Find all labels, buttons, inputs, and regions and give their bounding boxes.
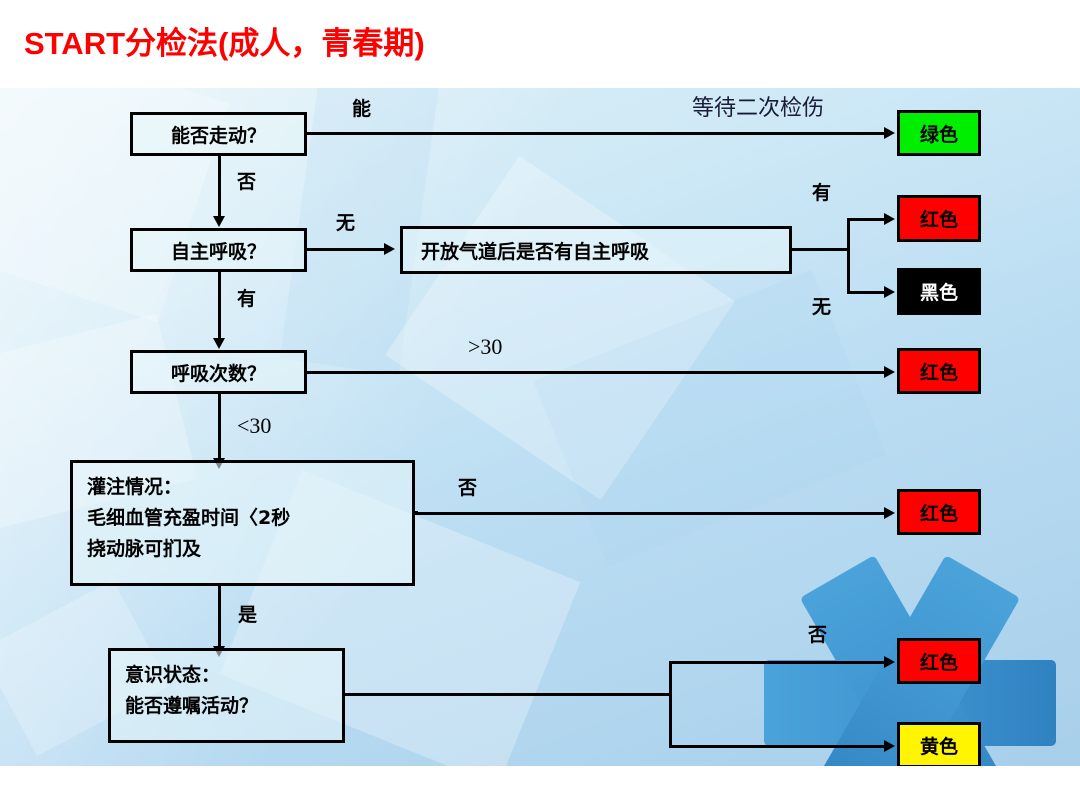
edge-resp-gt30-arrowhead: [884, 366, 895, 378]
edge-consciousness-no: [669, 661, 885, 664]
label-walk-yes: 能: [352, 94, 371, 121]
node-consciousness-line-2: 能否遵嘱活动？: [125, 691, 330, 722]
node-airway-opened[interactable]: 开放气道后是否有自主呼吸: [400, 226, 792, 274]
edge-walk-yes: [307, 132, 885, 135]
slide-background: 能否走动？ 能 等待二次检伤 绿色 否 自主呼吸？ 无 开放气道后是否有自主呼吸…: [0, 88, 1080, 766]
edge-perfusion-no: [415, 512, 885, 515]
chip-red-consciousness-label: 红色: [920, 648, 958, 675]
edge-airway-split: [847, 218, 850, 293]
edge-airway-has: [847, 218, 885, 221]
edge-airway-stem: [792, 248, 850, 251]
node-perfusion-line-2: 毛细血管充盈时间〈2秒: [87, 503, 400, 534]
chip-yellow-label: 黄色: [920, 732, 958, 759]
node-spontaneous-breathing[interactable]: 自主呼吸？: [130, 228, 307, 272]
node-airway-opened-label: 开放气道后是否有自主呼吸: [421, 237, 649, 264]
chip-yellow[interactable]: 黄色: [897, 722, 981, 766]
edge-walk-no: [218, 156, 221, 218]
edge-breathing-has-arrowhead: [213, 338, 225, 349]
edge-resp-gt30: [307, 371, 885, 374]
node-perfusion-line-1: 灌注情况：: [87, 472, 400, 503]
node-consciousness-line-1: 意识状态：: [125, 660, 330, 691]
edge-consciousness-stem: [345, 693, 672, 696]
node-can-walk[interactable]: 能否走动？: [130, 112, 307, 156]
edge-consciousness-yes: [669, 745, 885, 748]
label-breathing-none: 无: [336, 208, 355, 235]
edge-perfusion-yes: [218, 586, 221, 648]
label-airway-has: 有: [812, 178, 831, 205]
node-respiratory-rate[interactable]: 呼吸次数？: [130, 350, 307, 394]
edge-consciousness-split: [669, 661, 672, 748]
edge-resp-lt30: [218, 394, 221, 460]
edge-breathing-none-arrowhead: [384, 243, 395, 255]
label-airway-none: 无: [812, 292, 831, 319]
title-band: START分检法(成人，青春期): [0, 0, 1080, 88]
chip-red-airway-label: 红色: [920, 205, 958, 232]
label-perfusion-yes: 是: [238, 600, 257, 627]
node-perfusion-line-3: 挠动脉可扪及: [87, 534, 400, 565]
chip-green-label: 绿色: [920, 120, 958, 147]
edge-airway-none: [847, 291, 885, 294]
label-perfusion-no: 否: [458, 473, 477, 500]
node-consciousness[interactable]: 意识状态： 能否遵嘱活动？: [108, 648, 345, 743]
chip-black-label: 黑色: [920, 278, 958, 305]
chip-red-perfusion[interactable]: 红色: [897, 489, 981, 535]
page-title: START分检法(成人，青春期): [24, 18, 425, 63]
edge-perfusion-no-arrowhead: [884, 507, 895, 519]
label-resp-gt30: >30: [468, 334, 502, 360]
edge-walk-no-arrowhead: [213, 216, 225, 227]
edge-airway-none-arrowhead: [884, 286, 895, 298]
chip-red-airway[interactable]: 红色: [897, 195, 981, 242]
node-respiratory-rate-label: 呼吸次数？: [171, 359, 266, 386]
edge-airway-has-arrowhead: [884, 213, 895, 225]
note-secondary-triage: 等待二次检伤: [692, 90, 824, 122]
chip-green[interactable]: 绿色: [897, 110, 981, 156]
chip-red-resp-label: 红色: [920, 358, 958, 385]
label-breathing-has: 有: [237, 284, 256, 311]
node-perfusion[interactable]: 灌注情况： 毛细血管充盈时间〈2秒 挠动脉可扪及: [70, 460, 415, 586]
chip-red-resp[interactable]: 红色: [897, 348, 981, 394]
edge-breathing-none: [307, 248, 385, 251]
slide-canvas: START分检法(成人，青春期) 能否走动？ 能 等待二次检伤 绿色: [0, 0, 1080, 810]
edge-walk-yes-arrowhead: [884, 127, 895, 139]
label-consciousness-yes: 能: [808, 764, 827, 766]
node-can-walk-label: 能否走动？: [171, 121, 266, 148]
edge-consciousness-no-arrowhead: [884, 656, 895, 668]
label-resp-lt30: <30: [237, 413, 271, 439]
chip-red-perfusion-label: 红色: [920, 499, 958, 526]
chip-red-consciousness[interactable]: 红色: [897, 638, 981, 684]
label-walk-no: 否: [237, 167, 256, 194]
label-consciousness-no: 否: [808, 620, 827, 647]
edge-consciousness-yes-arrowhead: [884, 740, 895, 752]
chip-black[interactable]: 黑色: [897, 268, 981, 315]
edge-breathing-has: [218, 272, 221, 340]
node-spontaneous-breathing-label: 自主呼吸？: [171, 237, 266, 264]
